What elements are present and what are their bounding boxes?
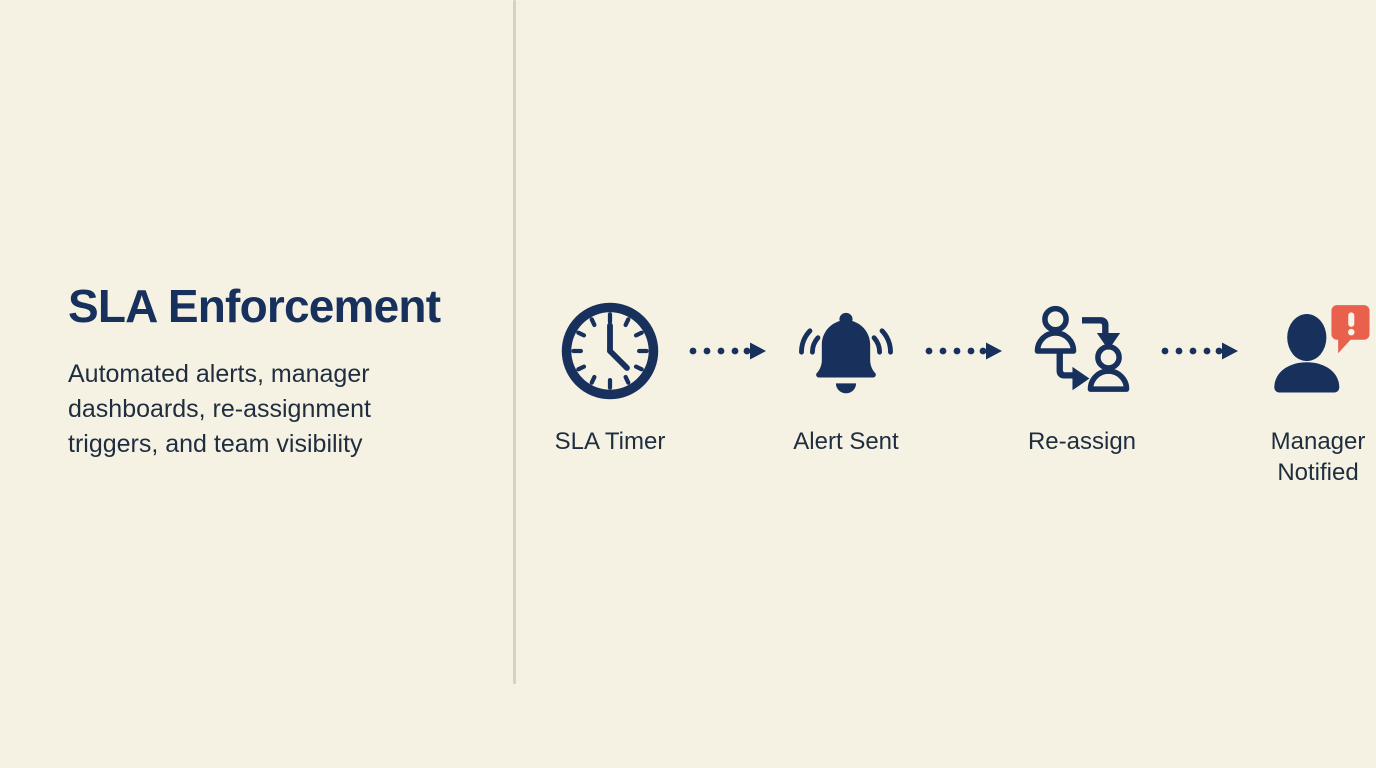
flow-step-label: Alert Sent bbox=[793, 426, 898, 457]
dotted-arrow-right-icon bbox=[921, 296, 1007, 406]
clock-icon bbox=[555, 296, 665, 406]
flow-step-sla-timer: SLA Timer bbox=[535, 296, 685, 457]
flow-step-alert-sent: Alert Sent bbox=[771, 296, 921, 457]
bell-icon bbox=[791, 296, 901, 406]
reassign-users-icon bbox=[1027, 296, 1137, 406]
page-subtitle: Automated alerts, manager dashboards, re… bbox=[68, 329, 443, 462]
flow-step-manager-notified: Manager Notified bbox=[1243, 296, 1376, 488]
dotted-arrow-right-icon bbox=[1157, 296, 1243, 406]
manager-alert-icon bbox=[1263, 296, 1373, 406]
flow-step-reassign: Re-assign bbox=[1007, 296, 1157, 457]
vertical-divider bbox=[513, 0, 516, 684]
slide-canvas: SLA Enforcement Automated alerts, manage… bbox=[0, 0, 1376, 768]
page-title: SLA Enforcement bbox=[68, 283, 488, 329]
dotted-arrow-right-icon bbox=[685, 296, 771, 406]
flow-step-label: SLA Timer bbox=[555, 426, 666, 457]
left-text-panel: SLA Enforcement Automated alerts, manage… bbox=[68, 283, 488, 462]
flow-step-label: Re-assign bbox=[1028, 426, 1136, 457]
flow-step-label: Manager Notified bbox=[1253, 426, 1376, 488]
process-flow-diagram: SLA Timer bbox=[535, 296, 1355, 516]
